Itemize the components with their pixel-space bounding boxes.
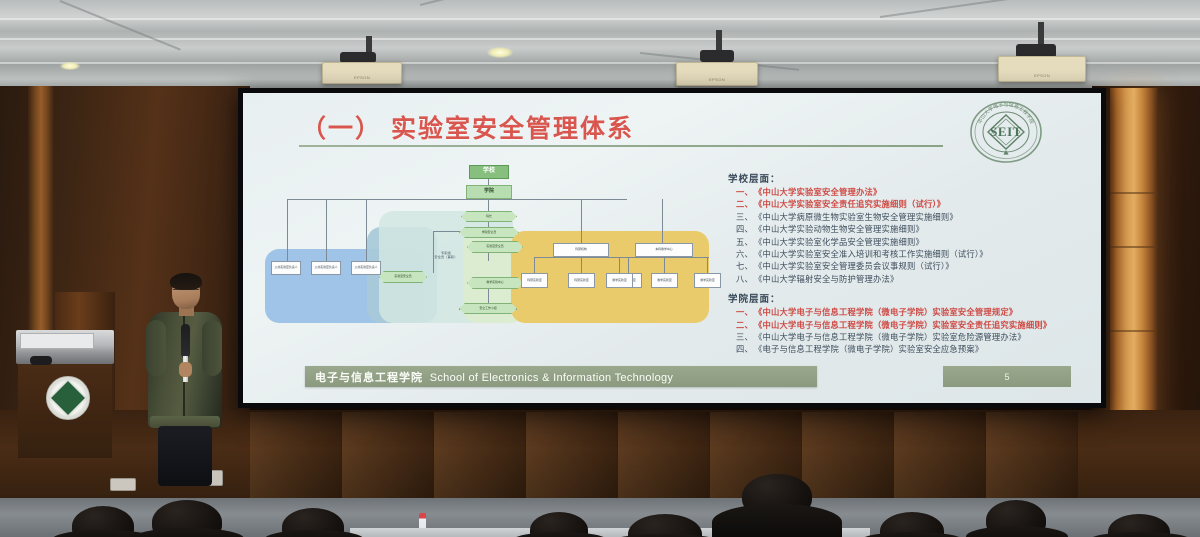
org-node-research-institute: 科研机构 <box>553 243 609 257</box>
page-number-block: 5 <box>943 366 1071 387</box>
org-chart-note: 专职组安全员（兼职） <box>415 251 477 259</box>
title-underline <box>299 145 943 147</box>
presenter-hand <box>179 362 192 377</box>
list-item: 二、《中山大学电子与信息工程学院（微电子学院）实验室安全责任追究实施细则》 <box>728 320 1076 332</box>
org-node-college: 学院 <box>466 185 512 199</box>
svg-text:SEIT: SEIT <box>990 124 1022 139</box>
list-item: 八、《中山大学辐射安全与防护管理办法》 <box>728 274 1076 286</box>
podium-microphone <box>30 356 52 365</box>
org-node-research-lab: 科研实验室 <box>521 273 548 288</box>
org-node-dean: 院长 <box>461 211 517 222</box>
list-item: 四、《中山大学实验动物生物安全管理实施细则》 <box>728 224 1076 236</box>
presenter <box>146 276 224 462</box>
seit-seal-logo: SEIT 中山大学电子与信息工程学院 <box>969 101 1043 163</box>
projector-brand-label: EPSON <box>999 73 1085 78</box>
section-heading-school: 学校层面： <box>728 171 1076 185</box>
slide-title: （一） 实验室安全管理体系 <box>301 109 634 145</box>
presenter-legs <box>158 426 212 486</box>
list-item: 七、《中山大学实验室安全管理委员会议事规则（试行）》 <box>728 261 1076 273</box>
podium <box>16 330 114 458</box>
footer-label: 电子与信息工程学院 School of Electronics & Inform… <box>315 369 673 385</box>
org-node-public-lab: 公共实验室负责人 <box>271 261 301 275</box>
org-node-safety-group: 安全工作小组 <box>459 303 517 314</box>
projector-brand-label: EPSON <box>323 75 401 80</box>
list-item: 二、《中山大学实验室安全责任追究实施细则（试行）》 <box>728 199 1076 211</box>
slide-footer: 电子与信息工程学院 School of Electronics & Inform… <box>305 366 817 387</box>
org-node-school: 学校 <box>469 165 509 179</box>
page-number: 5 <box>1004 372 1009 382</box>
wood-column <box>1110 88 1158 448</box>
list-item: 三、《中山大学电子与信息工程学院（微电子学院）实验室危险源管理办法》 <box>728 332 1076 344</box>
glasses-icon <box>173 289 199 295</box>
presenter-arm-left <box>146 320 166 376</box>
list-item: 五、《中山大学实验室化学品安全管理实施细则》 <box>728 237 1076 249</box>
org-node-teaching-lab: 教学实验室 <box>694 273 721 288</box>
org-node-undergrad-center: 本科教学中心 <box>635 243 693 257</box>
svg-text:中山大学电子与信息工程学院: 中山大学电子与信息工程学院 <box>977 101 1036 125</box>
org-node-public-lab: 公共实验室负责人 <box>311 261 341 275</box>
microphone <box>181 324 190 358</box>
list-item: 一、《中山大学电子与信息工程学院（微电子学院）实验室安全管理规定》 <box>728 307 1076 319</box>
list-item: 四、《电子与信息工程学院（微电子学院）实验室安全应急预案》 <box>728 344 1076 356</box>
wall-outlet <box>110 478 136 491</box>
list-item: 三、《中山大学病原微生物实验室生物安全管理实施细则》 <box>728 212 1076 224</box>
org-node-teaching-lab: 教学实验室 <box>606 273 633 288</box>
regulations-list: 学校层面： 一、《中山大学实验室安全管理办法》 二、《中山大学实验室安全责任追究… <box>728 171 1076 357</box>
section-heading-college: 学院层面： <box>728 291 1076 305</box>
ceiling-light-icon <box>487 47 513 58</box>
projection-screen-frame: （一） 实验室安全管理体系 SEIT 中山大学电子与信息工程学院 <box>238 88 1106 408</box>
podium-top-surface <box>16 330 114 364</box>
lecture-hall-scene: EPSON EPSON EPSON （一） 实验室安全管理体系 <box>0 0 1200 537</box>
podium-control-screen <box>20 333 94 349</box>
list-item: 一、《中山大学实验室安全管理办法》 <box>728 187 1076 199</box>
presenter-hair <box>170 273 202 290</box>
org-chart: 学校 学院 院长 学院安全员 实验室安全员 教学实验中心 安全工作小组 实验室安… <box>263 165 713 345</box>
ceiling-light-icon <box>60 62 80 70</box>
org-node-research-lab: 科研实验室 <box>568 273 595 288</box>
slide-surface: （一） 实验室安全管理体系 SEIT 中山大学电子与信息工程学院 <box>243 93 1101 403</box>
org-node-public-lab: 公共实验室负责人 <box>351 261 381 275</box>
podium-seal-logo <box>46 376 90 420</box>
list-item: 六、《中山大学实验室安全准入培训和考核工作实施细则（试行）》 <box>728 249 1076 261</box>
org-node-teaching-lab: 教学实验室 <box>651 273 678 288</box>
org-node-college-safety-officer: 学院安全员 <box>459 227 519 238</box>
org-node-teaching-center: 教学实验中心 <box>467 277 523 289</box>
org-node-lab-manager: 实验室安全员 <box>379 271 427 283</box>
projector-brand-label: EPSON <box>677 77 757 82</box>
presenter-arm-right <box>202 320 222 376</box>
